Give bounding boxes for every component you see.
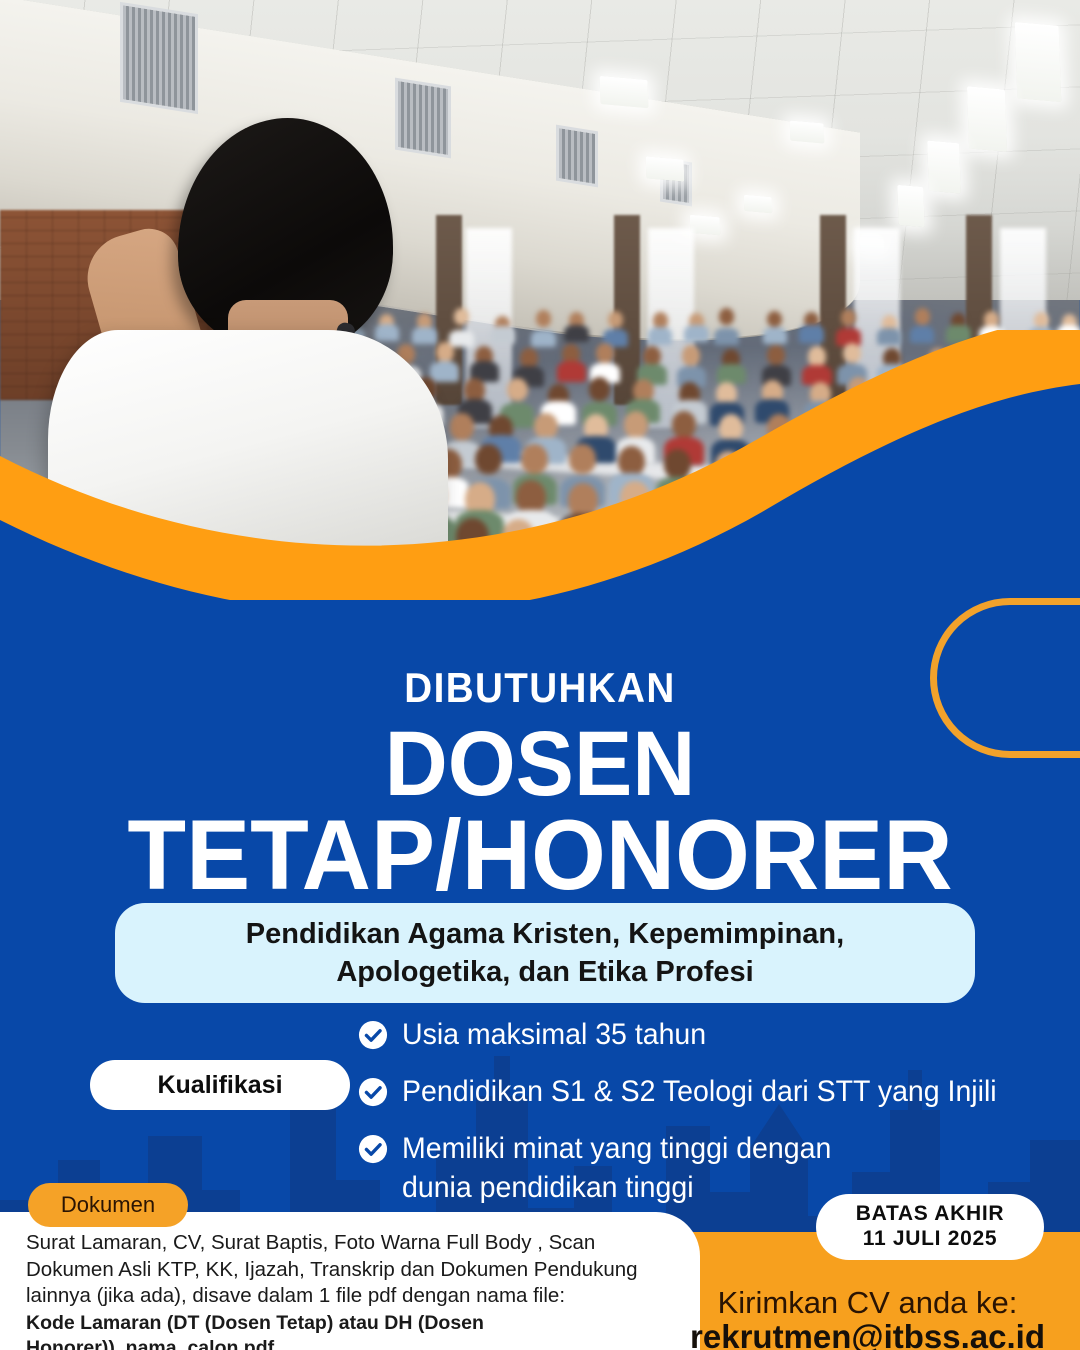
crowd-head xyxy=(653,312,668,329)
documents-badge: Dokumen xyxy=(28,1183,188,1227)
list-item-label: Usia maksimal 35 tahun xyxy=(402,1015,706,1054)
ceiling-lamp xyxy=(600,76,649,108)
check-circle-icon xyxy=(358,1134,388,1164)
deadline-badge: BATAS AKHIR 11 JULI 2025 xyxy=(816,1194,1044,1260)
page-title-line1: DOSEN xyxy=(27,718,1053,810)
ceiling-lamp xyxy=(744,195,773,214)
list-item: Usia maksimal 35 tahun xyxy=(358,1015,1058,1054)
page-title-line2: TETAP/HONORER xyxy=(16,805,1064,904)
list-item-label: Memiliki minat yang tinggi dengan dunia … xyxy=(402,1129,877,1207)
ceiling-lamp xyxy=(1015,22,1062,102)
check-circle-icon xyxy=(358,1077,388,1107)
crowd-head xyxy=(915,308,930,325)
ceiling-lamp xyxy=(646,156,685,181)
crowd-head xyxy=(1034,312,1049,329)
eyebrow-heading: DIBUTUHKAN xyxy=(43,664,1037,712)
crowd-head xyxy=(608,311,623,328)
subject-line-2: Apologetika, dan Etika Profesi xyxy=(336,956,753,988)
deadline-label: BATAS AKHIR xyxy=(856,1202,1004,1227)
qualification-badge: Kualifikasi xyxy=(90,1060,350,1110)
contact-email[interactable]: rekrutmen@itbss.ac.id xyxy=(655,1318,1080,1350)
crowd-head xyxy=(536,310,551,327)
list-item-label: Pendidikan S1 & S2 Teologi dari STT yang… xyxy=(402,1072,997,1111)
deadline-date: 11 JULI 2025 xyxy=(863,1227,998,1252)
ceiling-lamp xyxy=(897,185,924,227)
ceiling-lamp xyxy=(790,120,825,143)
crowd-head xyxy=(984,311,999,328)
subject-area-box: Pendidikan Agama Kristen, Kepemimpinan, … xyxy=(115,903,975,1003)
crowd-head xyxy=(841,309,856,326)
recruitment-poster: DIBUTUHKAN DOSEN TETAP/HONORER Pendidika… xyxy=(0,0,1080,1350)
vent-icon xyxy=(556,125,598,188)
contact-prompt: Kirimkan CV anda ke: xyxy=(655,1285,1080,1321)
check-circle-icon xyxy=(358,1020,388,1050)
crowd-head xyxy=(454,308,469,325)
ceiling-lamp xyxy=(967,86,1007,152)
subject-area-text: Pendidikan Agama Kristen, Kepemimpinan, … xyxy=(220,915,870,992)
subject-line-1: Pendidikan Agama Kristen, Kepemimpinan, xyxy=(246,918,844,950)
documents-text: Surat Lamaran, CV, Surat Baptis, Foto Wa… xyxy=(26,1230,666,1350)
vent-icon xyxy=(120,2,198,114)
documents-panel: Surat Lamaran, CV, Surat Baptis, Foto Wa… xyxy=(0,1212,700,1350)
vent-icon xyxy=(395,78,451,159)
ceiling-lamp xyxy=(690,215,721,236)
documents-body: Surat Lamaran, CV, Surat Baptis, Foto Wa… xyxy=(26,1231,638,1307)
ceiling-lamp xyxy=(927,141,961,194)
list-item: Pendidikan S1 & S2 Teologi dari STT yang… xyxy=(358,1072,1058,1111)
crowd-head xyxy=(719,308,734,325)
crowd-head xyxy=(767,311,782,328)
documents-filename-format: Kode Lamaran (DT (Dosen Tetap) atau DH (… xyxy=(26,1311,666,1350)
